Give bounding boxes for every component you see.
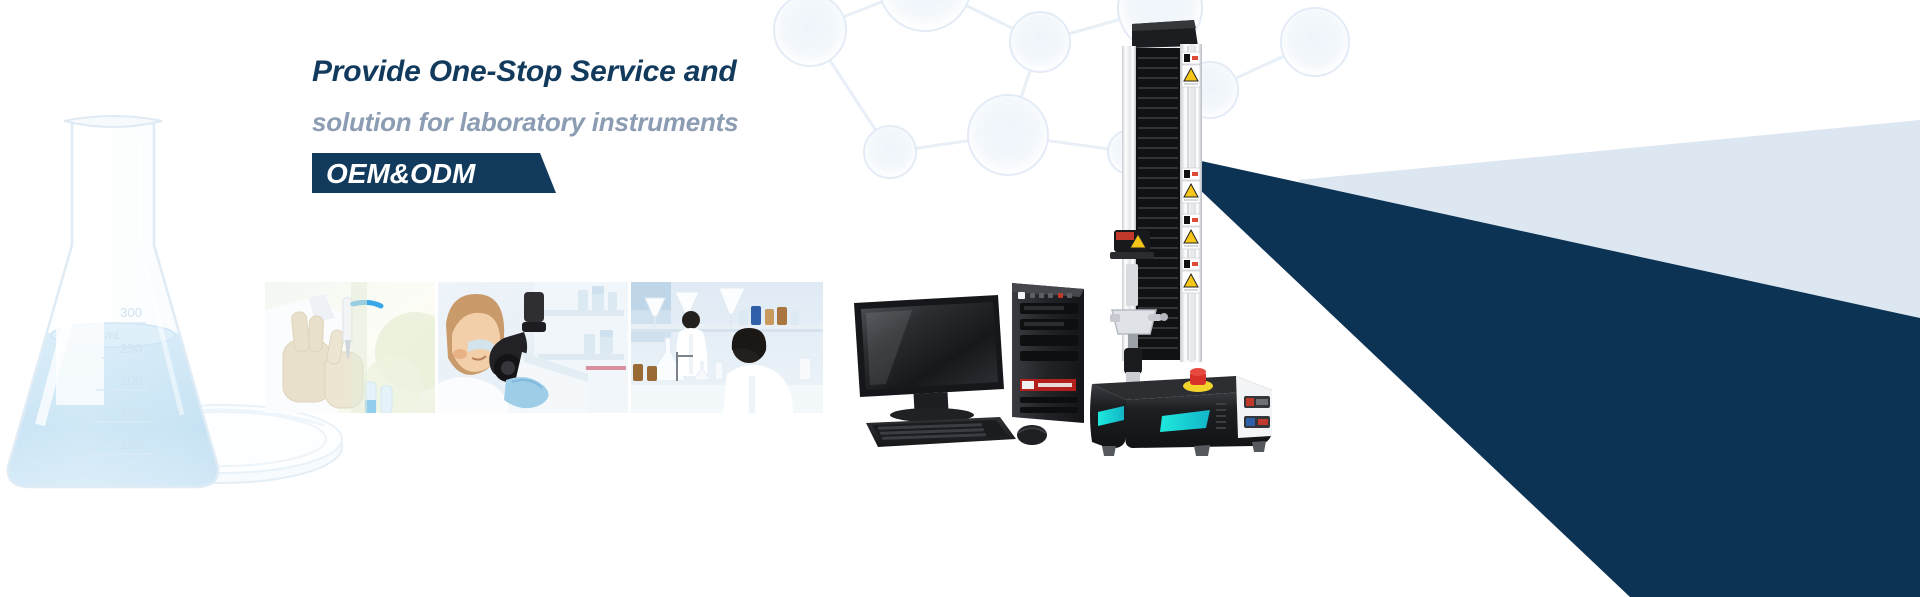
petri-dish-icon xyxy=(102,405,342,483)
mouse-icon xyxy=(1017,425,1047,445)
page-title: Provide One-Stop Service and xyxy=(312,56,872,88)
promo-banner: 300 250 200 150 100 mL Provide One-Stop … xyxy=(0,0,1920,597)
desktop-computer xyxy=(852,283,1097,451)
oem-odm-badge: OEM&ODM xyxy=(312,153,556,193)
machine-base xyxy=(1090,368,1272,456)
machine-crosshead xyxy=(1110,230,1154,259)
wedge-light-shape xyxy=(1298,120,1920,460)
flask-graduation-200: 200 xyxy=(120,373,142,388)
badge-label: OEM&ODM xyxy=(326,158,475,190)
headline-copy-block: Provide One-Stop Service and solution fo… xyxy=(312,56,872,193)
flask-graduation-300: 300 xyxy=(120,305,142,320)
flask-graduation-150: 150 xyxy=(120,405,142,420)
computer-tower-icon xyxy=(1012,283,1084,423)
universal-testing-machine xyxy=(1086,18,1296,458)
photo-microscope xyxy=(438,282,628,413)
photo-lab-bench xyxy=(631,282,823,413)
page-subtitle: solution for laboratory instruments xyxy=(312,109,872,136)
keyboard-icon xyxy=(866,417,1016,447)
flask-graduation-100: 100 xyxy=(120,437,142,452)
photo-pipetting xyxy=(265,282,435,413)
monitor-icon xyxy=(854,295,1004,422)
lab-photo-strip xyxy=(265,282,823,413)
flask-graduation-250: 250 xyxy=(120,341,142,356)
flask-unit-label: mL xyxy=(105,328,122,342)
